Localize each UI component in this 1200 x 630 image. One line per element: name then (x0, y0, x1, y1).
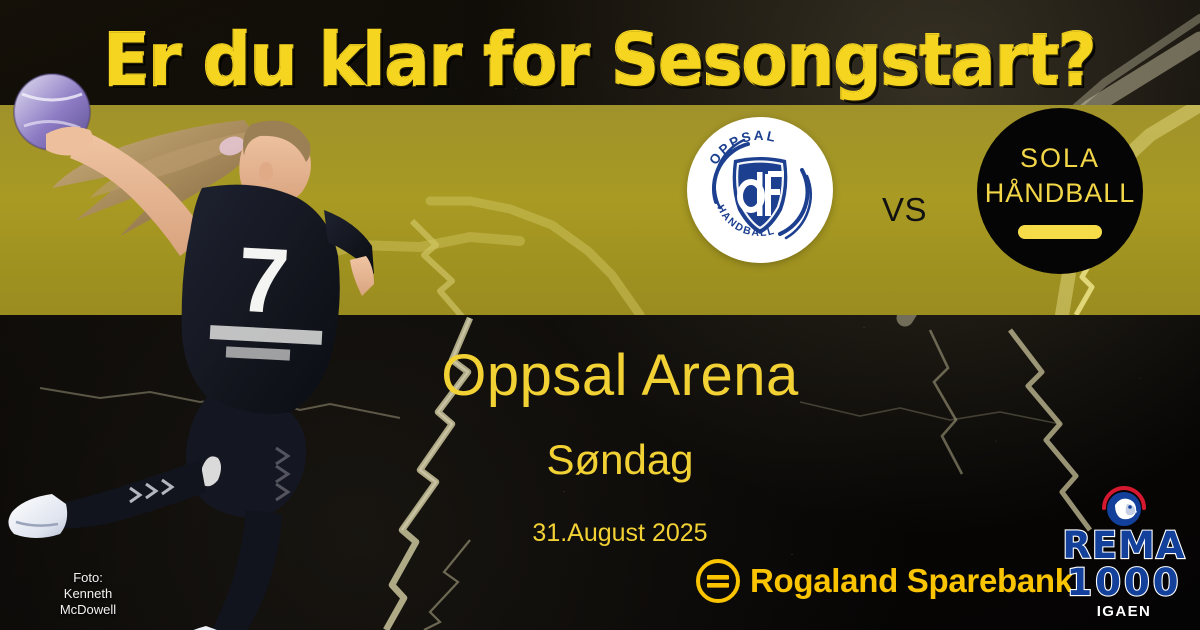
sponsor-bank-name: Rogaland Sparebank (750, 564, 1073, 598)
photo-credit-label: Foto: (28, 570, 148, 586)
event-date: 31.August 2025 (300, 518, 940, 548)
sponsor-rema-1000: REMA 1000 IGAEN (1058, 486, 1190, 621)
match-promo-poster: Er du klar for Sesongstart? (0, 0, 1200, 630)
photo-credit-last-name: McDowell (28, 602, 148, 618)
venue-name: Oppsal Arena (300, 344, 940, 408)
headline-text: Er du klar for Sesongstart? (104, 18, 1096, 102)
oppsal-handball-logo: OPPSAL HANDBALL (687, 117, 833, 263)
rema-tagline: IGAEN (1097, 603, 1152, 621)
rema-line-2: 1000 (1067, 564, 1182, 602)
sola-line-1: SOLA (1020, 143, 1100, 174)
sponsor-rogaland-sparebank: Rogaland Sparebank (695, 558, 1073, 604)
photo-credit: Foto: Kenneth McDowell (28, 570, 148, 618)
sola-handball-logo: SOLA HÅNDBALL (977, 108, 1143, 274)
page-title: Er du klar for Sesongstart? (42, 18, 1158, 102)
event-weekday: Søndag (300, 436, 940, 484)
equals-circle-icon (695, 558, 741, 604)
svg-text:7: 7 (235, 229, 291, 334)
matchup-row: OPPSAL HANDBALL VS SOLA HÅNDBALL (640, 105, 1200, 315)
rema-line-1: REMA (1062, 528, 1185, 564)
sola-underline-bar (1018, 225, 1102, 239)
vs-label: VS (882, 191, 927, 229)
photo-credit-first-name: Kenneth (28, 586, 148, 602)
sola-line-2: HÅNDBALL (985, 178, 1136, 209)
